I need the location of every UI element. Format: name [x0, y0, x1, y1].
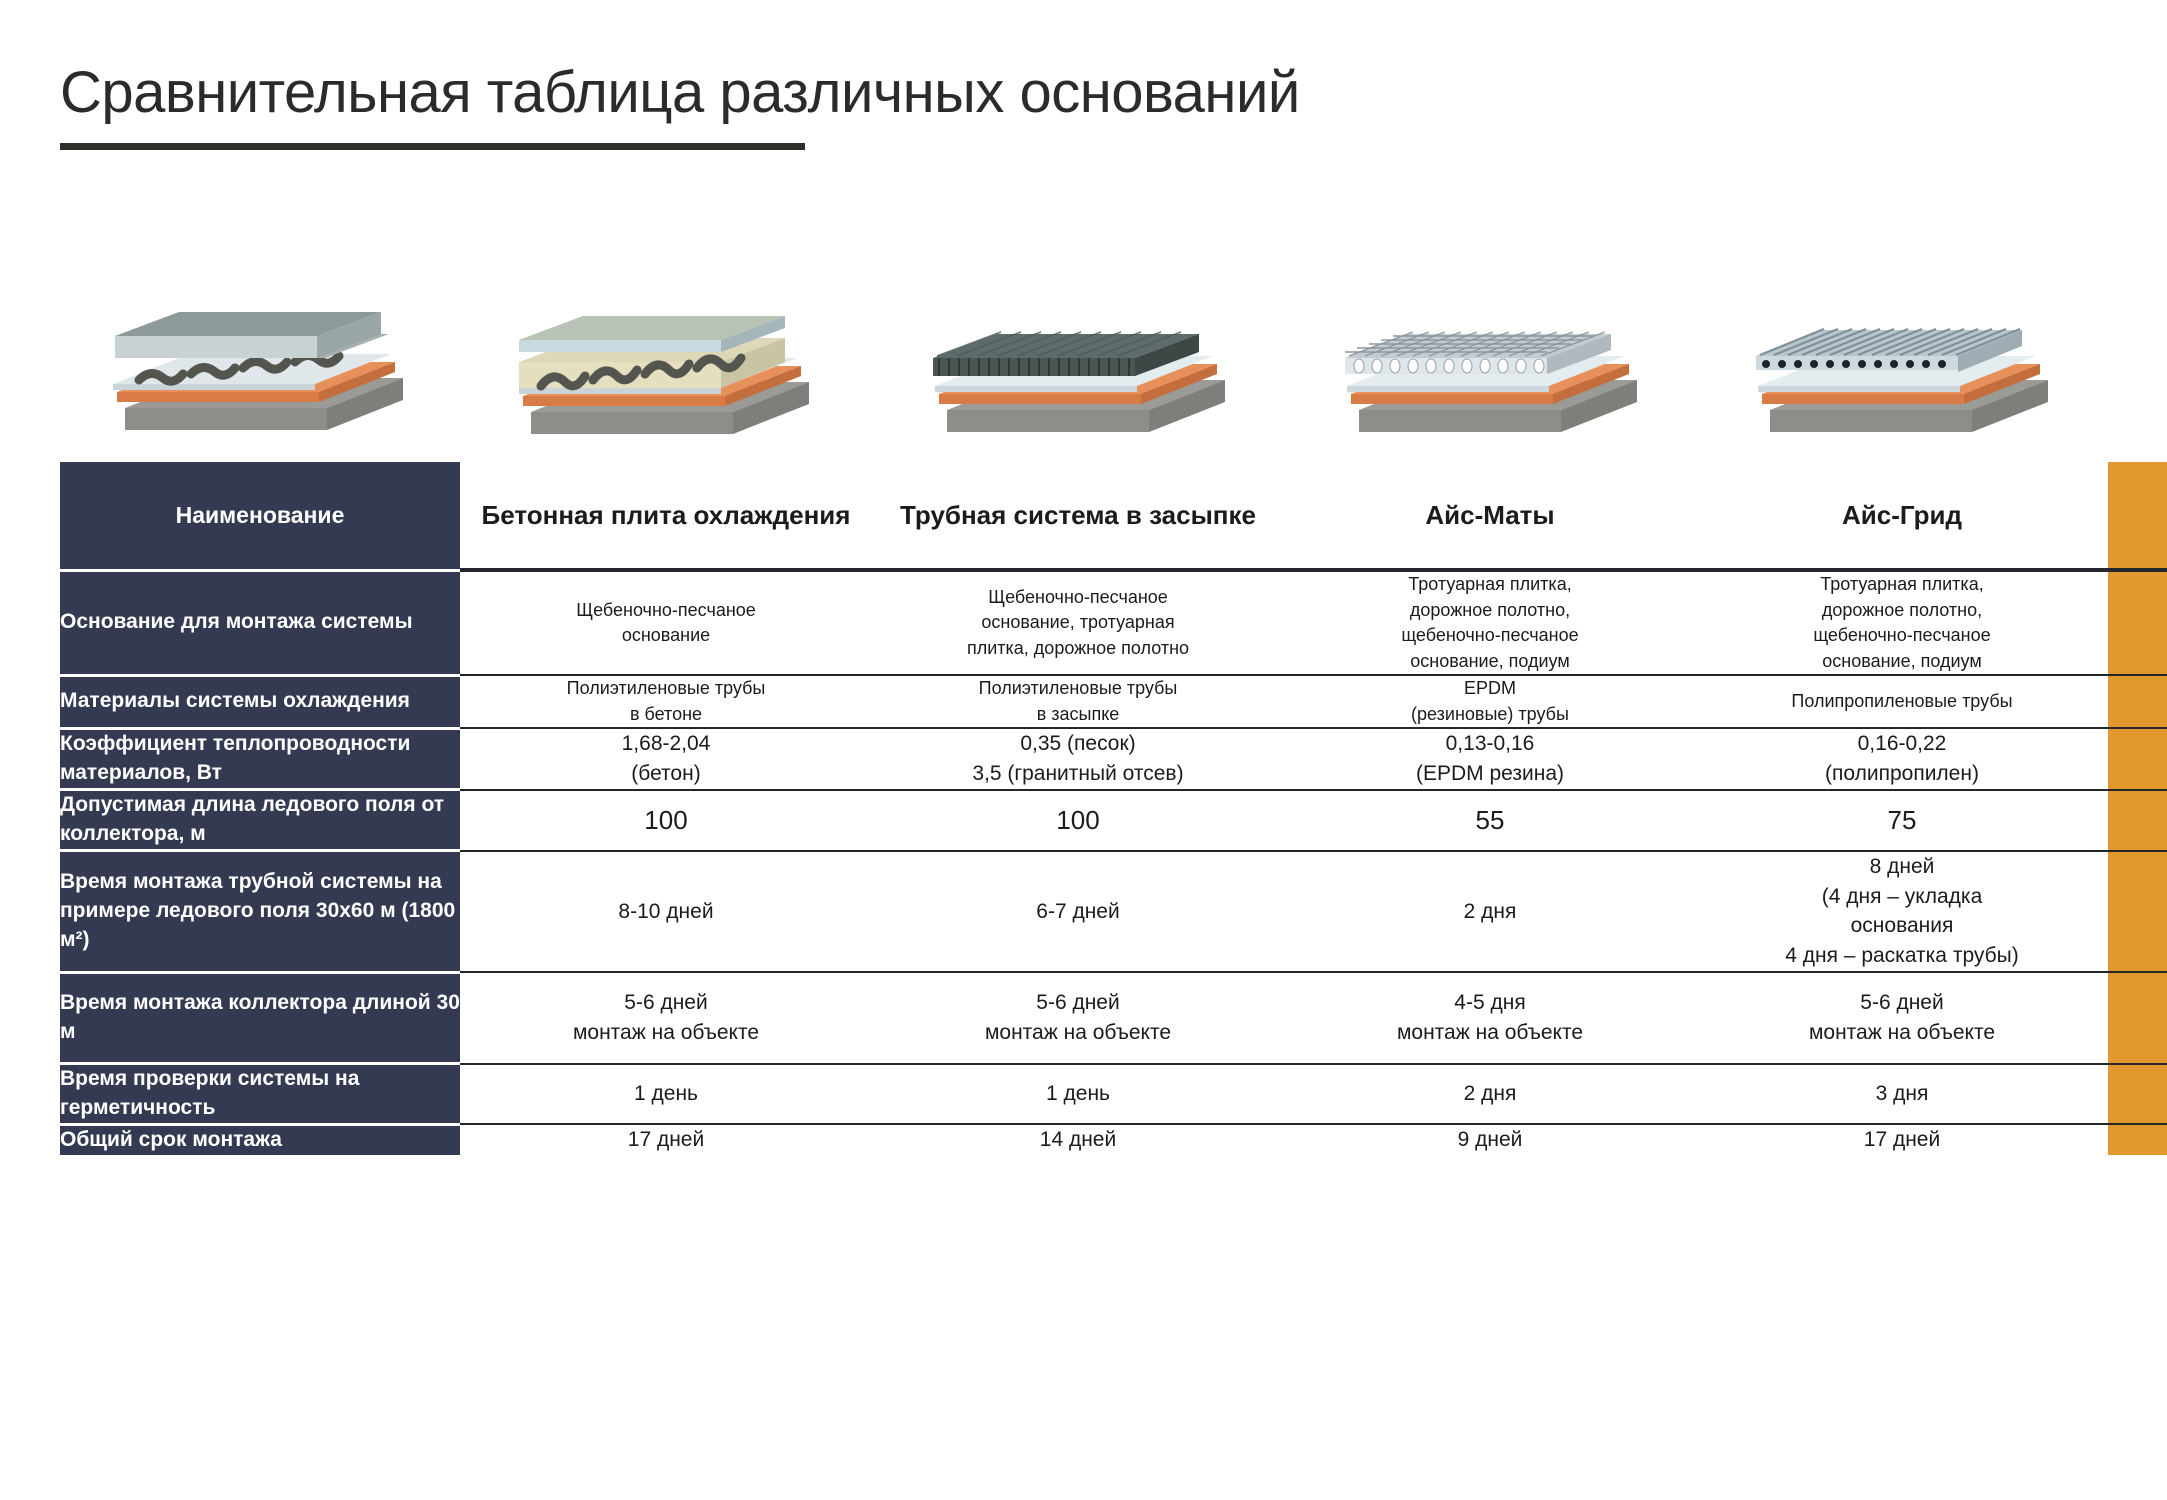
table-cell-col2: 0,35 (песок)3,5 (гранитный отсев) [872, 728, 1284, 790]
product-illustration-strip [60, 280, 2108, 460]
table-cell-col4: 3 дня [1696, 1064, 2108, 1125]
table-cell-col5: 2-3 часаколлектор интегрированв трубную … [2108, 972, 2167, 1063]
table-cell-col4: 75 [1696, 790, 2108, 851]
table-cell-col4: 5-6 днеймонтаж на объекте [1696, 972, 2108, 1063]
table-cell-col4: Тротуарная плитка,дорожное полотно,щебен… [1696, 570, 2108, 675]
table-row: Материалы системы охлажденияПолиэтиленов… [60, 675, 2167, 728]
table-row: Время проверки системы на герметичность1… [60, 1064, 2167, 1125]
table-header-cell-col3: Айс-Маты [1284, 462, 1696, 570]
row-label-cell: Время проверки системы на герметичность [60, 1064, 460, 1125]
table-cell-col2: 14 дней [872, 1124, 1284, 1155]
comparison-table: НаименованиеБетонная плита охлажденияТру… [60, 462, 2167, 1155]
pipe-system-in-fill-illustration [460, 280, 872, 460]
table-body: Основание для монтажа системыЩебеночно-п… [60, 570, 2167, 1155]
title-block: Сравнительная таблица различных основани… [60, 62, 1960, 150]
table-cell-col2: 5-6 днеймонтаж на объекте [872, 972, 1284, 1063]
table-cell-col1: 17 дней [460, 1124, 872, 1155]
table-header-cell-col2: Трубная система в засыпке [872, 462, 1284, 570]
table-cell-col3: 55 [1284, 790, 1696, 851]
table-row: Коэффициент теплопроводности материалов,… [60, 728, 2167, 790]
table-cell-col1: Щебеночно-песчаноеоснование [460, 570, 872, 675]
table-header-row: НаименованиеБетонная плита охлажденияТру… [60, 462, 2167, 570]
table-cell-col2: Щебеночно-песчаноеоснование, тротуарнаяп… [872, 570, 1284, 675]
row-label-cell: Коэффициент теплопроводности материалов,… [60, 728, 460, 790]
row-label-cell: Время монтажа трубной системы на примере… [60, 851, 460, 972]
table-cell-col3: 4-5 днямонтаж на объекте [1284, 972, 1696, 1063]
table-row: Время монтажа трубной системы на примере… [60, 851, 2167, 972]
row-label-cell: Общий срок монтажа [60, 1124, 460, 1155]
table-cell-col5: 1 день [2108, 851, 2167, 972]
table-cell-col5: 95 [2108, 790, 2167, 851]
table-cell-col3: EPDM(резиновые) трубы [1284, 675, 1696, 728]
table-cell-col5: 3 дня [2108, 1124, 2167, 1155]
table-cell-col3: 9 дней [1284, 1124, 1696, 1155]
row-label-cell: Основание для монтажа системы [60, 570, 460, 675]
row-label-cell: Материалы системы охлаждения [60, 675, 460, 728]
table-cell-col2: 100 [872, 790, 1284, 851]
table-cell-col1: 100 [460, 790, 872, 851]
table-cell-col4: 17 дней [1696, 1124, 2108, 1155]
page-title: Сравнительная таблица различных основани… [60, 62, 1960, 125]
table-header: НаименованиеБетонная плита охлажденияТру… [60, 462, 2167, 570]
table-cell-col3: 2 дня [1284, 1064, 1696, 1125]
table-cell-col4: 0,16-0,22(полипропилен) [1696, 728, 2108, 790]
table-cell-col4: 8 дней(4 дня – укладкаоснования4 дня – р… [1696, 851, 2108, 972]
table-cell-col1: 1,68-2,04(бетон) [460, 728, 872, 790]
table-row: Общий срок монтажа17 дней14 дней9 дней17… [60, 1124, 2167, 1155]
table-row: Допустимая длина ледового поля от коллек… [60, 790, 2167, 851]
table-cell-col5: 220(алюминий) [2108, 728, 2167, 790]
ice-grid-illustration [1284, 280, 1696, 460]
table-row: Время монтажа коллектора длиной 30 м5-6 … [60, 972, 2167, 1063]
table-cell-col5: 1 день [2108, 1064, 2167, 1125]
table-cell-col1: 8-10 дней [460, 851, 872, 972]
row-label-cell: Допустимая длина ледового поля от коллек… [60, 790, 460, 851]
table-cell-col2: 1 день [872, 1064, 1284, 1125]
table-cell-col1: 5-6 днеймонтаж на объекте [460, 972, 872, 1063]
ice-mats-illustration [872, 280, 1284, 460]
table-cell-col2: 6-7 дней [872, 851, 1284, 972]
table-cell-col2: Полиэтиленовые трубыв засыпке [872, 675, 1284, 728]
table-cell-col1: Полиэтиленовые трубыв бетоне [460, 675, 872, 728]
table-cell-col5: Алюминиевые трубы [2108, 675, 2167, 728]
table-cell-col3: 0,13-0,16(EPDM резина) [1284, 728, 1696, 790]
comparison-table-wrapper: НаименованиеБетонная плита охлажденияТру… [60, 462, 2108, 1155]
table-cell-col4: Полипропиленовые трубы [1696, 675, 2108, 728]
table-row: Основание для монтажа системыЩебеночно-п… [60, 570, 2167, 675]
alumice-illustration [1696, 280, 2108, 460]
table-cell-col5: Тротуарная плитка,дорожное полотно,щебен… [2108, 570, 2167, 675]
table-cell-col3: 2 дня [1284, 851, 1696, 972]
title-underline-rule [60, 143, 805, 150]
table-header-cell-col4: Айс-Грид [1696, 462, 2108, 570]
table-cell-col3: Тротуарная плитка,дорожное полотно,щебен… [1284, 570, 1696, 675]
concrete-cooling-slab-illustration [60, 280, 460, 460]
table-cell-col1: 1 день [460, 1064, 872, 1125]
table-header-cell-name: Наименование [60, 462, 460, 570]
row-label-cell: Время монтажа коллектора длиной 30 м [60, 972, 460, 1063]
table-header-cell-col1: Бетонная плита охлаждения [460, 462, 872, 570]
table-header-cell-col5: Алюмайс [2108, 462, 2167, 570]
